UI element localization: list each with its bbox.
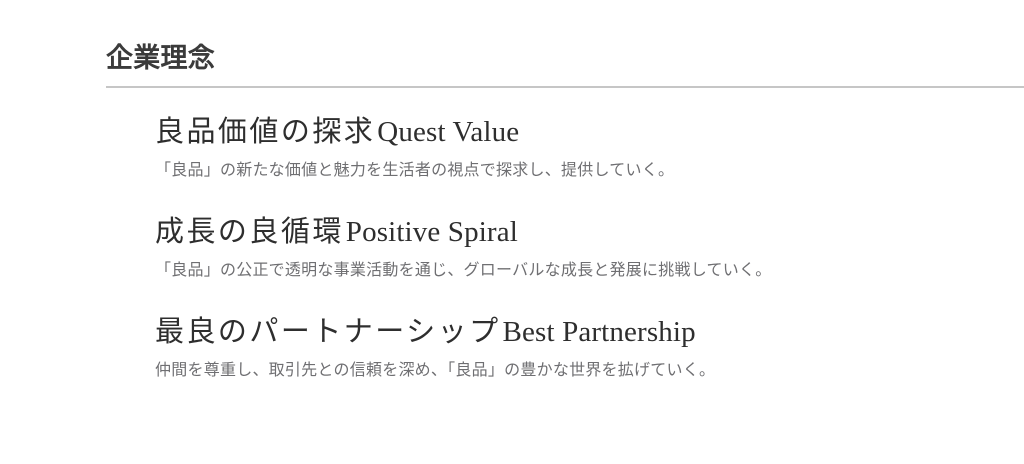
list-item: 良品価値の探求Quest Value 「良品」の新たな価値と魅力を生活者の視点で… bbox=[155, 112, 1004, 184]
philosophy-title-en: Quest Value bbox=[375, 116, 519, 148]
philosophy-item-description: 仲間を尊重し、取引先との信頼を深め、「良品」の豊かな世界を拡げていく。 bbox=[155, 359, 1004, 384]
header-divider bbox=[106, 86, 1024, 88]
philosophy-page: 企業理念 良品価値の探求Quest Value 「良品」の新たな価値と魅力を生活… bbox=[0, 0, 1024, 464]
section-header: 企業理念 bbox=[106, 42, 1024, 74]
philosophy-title-ja: 成長の良循環 bbox=[155, 216, 344, 248]
philosophy-item-description: 「良品」の新たな価値と魅力を生活者の視点で探求し、提供していく。 bbox=[155, 159, 1004, 184]
page-title: 企業理念 bbox=[106, 42, 1024, 74]
philosophy-title-en: Positive Spiral bbox=[344, 216, 518, 248]
philosophy-item-title: 最良のパートナーシップBest Partnership bbox=[155, 312, 1004, 353]
philosophy-item-title: 良品価値の探求Quest Value bbox=[155, 112, 1004, 153]
philosophy-title-ja: 最良のパートナーシップ bbox=[155, 316, 501, 348]
philosophy-item-title: 成長の良循環Positive Spiral bbox=[155, 212, 1004, 253]
philosophy-list: 良品価値の探求Quest Value 「良品」の新たな価値と魅力を生活者の視点で… bbox=[155, 112, 1004, 384]
list-item: 成長の良循環Positive Spiral 「良品」の公正で透明な事業活動を通じ… bbox=[155, 212, 1004, 284]
philosophy-title-en: Best Partnership bbox=[501, 316, 696, 348]
list-item: 最良のパートナーシップBest Partnership 仲間を尊重し、取引先との… bbox=[155, 312, 1004, 384]
philosophy-item-description: 「良品」の公正で透明な事業活動を通じ、グローバルな成長と発展に挑戦していく。 bbox=[155, 259, 1004, 284]
philosophy-title-ja: 良品価値の探求 bbox=[155, 116, 375, 148]
